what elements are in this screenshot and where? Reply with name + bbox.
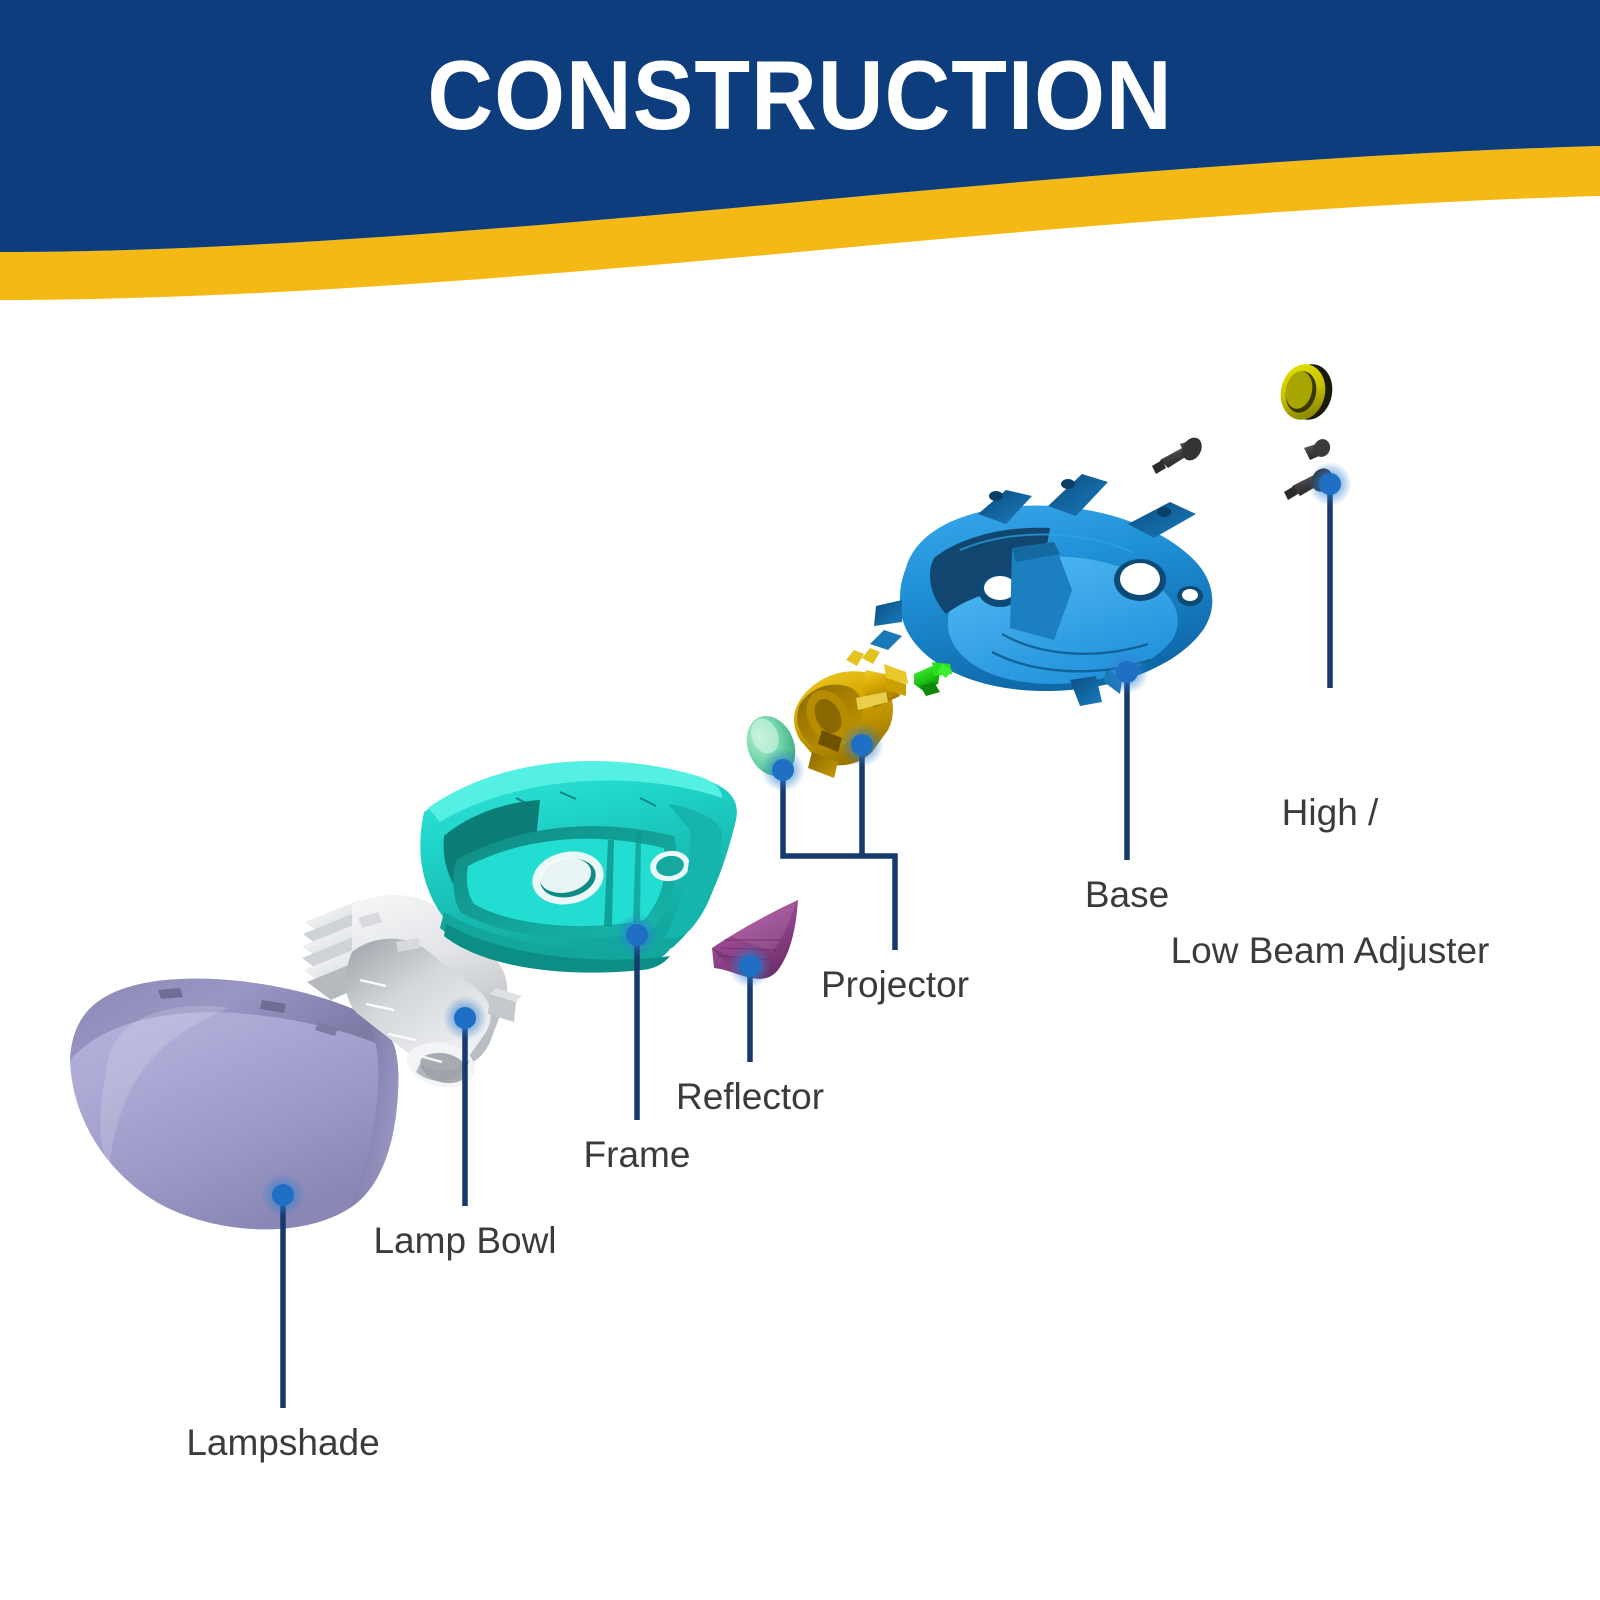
marker-lamp-bowl bbox=[443, 996, 487, 1040]
part-green-clip bbox=[914, 662, 952, 696]
marker-frame bbox=[615, 913, 659, 957]
label-high-low-beam-adjuster-line1: High / bbox=[1110, 790, 1550, 836]
page-title: CONSTRUCTION bbox=[56, 46, 1544, 144]
adjuster-screw-head-right bbox=[1304, 437, 1333, 460]
label-projector: Projector bbox=[772, 962, 1018, 1007]
part-frame bbox=[420, 761, 737, 973]
adjuster-cap bbox=[1276, 360, 1338, 424]
marker-reflector bbox=[728, 944, 772, 988]
label-frame: Frame bbox=[514, 1132, 760, 1177]
page-header: CONSTRUCTION bbox=[0, 0, 1600, 300]
adjuster-screw-left bbox=[1152, 434, 1206, 474]
label-lamp-bowl: Lamp Bowl bbox=[342, 1218, 588, 1263]
label-high-low-beam-adjuster-line2: Low Beam Adjuster bbox=[1110, 928, 1550, 974]
part-lampshade bbox=[70, 979, 398, 1230]
marker-base bbox=[1105, 650, 1149, 694]
exploded-diagram: Lampshade Lamp Bowl Frame Reflector Proj… bbox=[0, 300, 1600, 1600]
label-lampshade: Lampshade bbox=[160, 1420, 406, 1465]
marker-high-low-beam-adjuster bbox=[1308, 462, 1352, 506]
label-high-low-beam-adjuster: High / Low Beam Adjuster bbox=[1110, 698, 1550, 1066]
marker-lampshade bbox=[261, 1173, 305, 1217]
marker-projector-body bbox=[840, 723, 884, 767]
label-reflector: Reflector bbox=[627, 1074, 873, 1119]
leader-projector bbox=[783, 772, 895, 950]
marker-projector-lens bbox=[761, 748, 805, 792]
